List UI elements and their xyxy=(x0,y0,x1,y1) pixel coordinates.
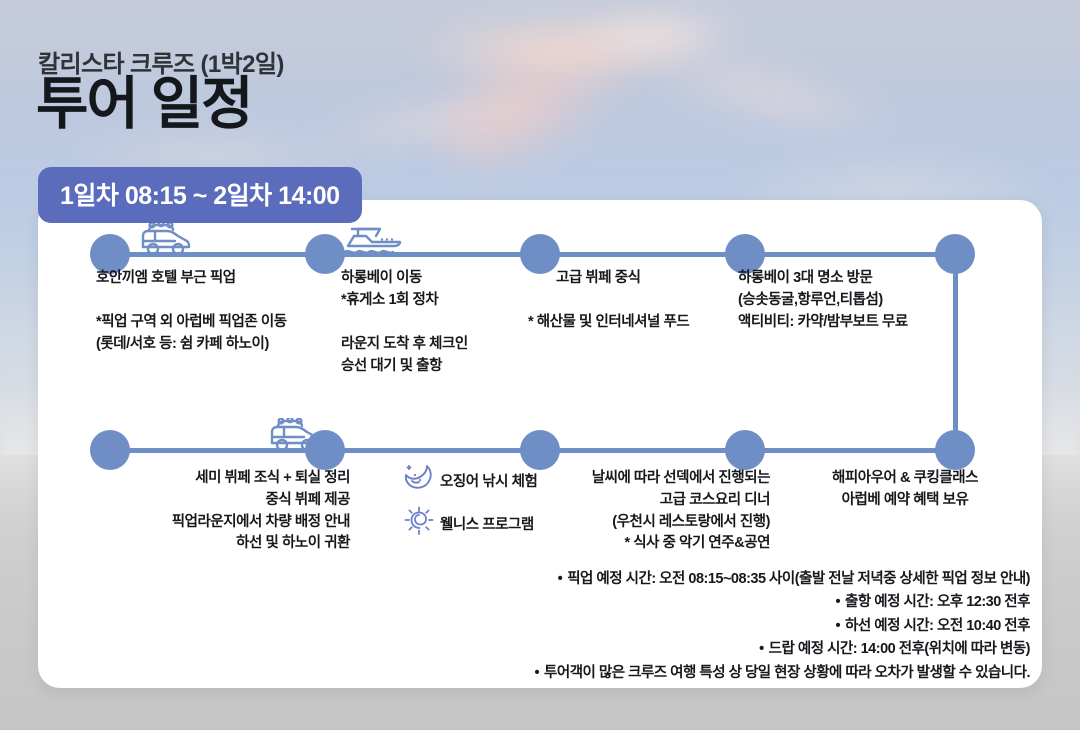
step-title-d1-2: 하롱베이 이동 *휴게소 1회 정차 xyxy=(341,268,551,312)
timeline-node-d2-1[interactable] xyxy=(90,430,130,470)
status-badge: 1일차 08:15 ~ 2일차 14:00 xyxy=(38,167,362,223)
step-title-d2-4: 해피아우어 & 쿠킹클래스 아럽베 예약 혜택 보유 xyxy=(795,468,1015,512)
step-detail-d1-2: 라운지 도착 후 체크인 승선 대기 및 출항 xyxy=(341,334,551,378)
timeline-node-d2-5[interactable] xyxy=(935,430,975,470)
moon-icon xyxy=(403,462,435,494)
note-text: 출항 예정 시간: 오후 12:30 전후 xyxy=(845,594,1030,610)
sun-icon xyxy=(402,505,436,537)
note-text: 드랍 예정 시간: 14:00 전후(위치에 따라 변동) xyxy=(769,641,1030,657)
bullet-icon: • xyxy=(835,618,840,634)
page-title: 투어 일정 xyxy=(36,76,252,133)
notes-list: •픽업 예정 시간: 오전 08:15~08:35 사이(출발 전날 저녁중 상… xyxy=(330,568,1030,685)
note-text: 픽업 예정 시간: 오전 08:15~08:35 사이(출발 전날 저녁중 상세… xyxy=(567,571,1030,587)
bullet-icon: • xyxy=(558,571,563,587)
step-title-d2-3: 날씨에 따라 선덱에서 진행되는 고급 코스요리 디너 (우천시 레스토랑에서 … xyxy=(530,468,770,555)
boat-icon xyxy=(342,224,404,258)
step-title-d1-1: 호안끼엠 호텔 부근 픽업 xyxy=(96,268,336,290)
step-title-d2-2: 세미 뷔페 조식 + 퇴실 정리 중식 뷔페 제공 픽업라운지에서 차량 배정 … xyxy=(90,468,350,555)
note-item: •하선 예정 시간: 오전 10:40 전후 xyxy=(330,615,1030,638)
bullet-icon: • xyxy=(835,594,840,610)
timeline-node-d2-3[interactable] xyxy=(520,430,560,470)
step-title-d1-3: 고급 뷔페 중식 xyxy=(556,268,756,290)
step-detail-d1-1: *픽업 구역 외 아럽베 픽업존 이동 (롯데/서호 등: 쉼 카페 하노이) xyxy=(96,312,346,356)
note-text: 투어객이 많은 크루즈 여행 특성 상 당일 현장 상황에 따라 오차가 발생할… xyxy=(544,665,1030,681)
timeline-node-d2-4[interactable] xyxy=(725,430,765,470)
note-item: •드랍 예정 시간: 14:00 전후(위치에 따라 변동) xyxy=(330,638,1030,661)
side-activity-label-2: 웰니스 프로그램 xyxy=(440,513,534,534)
note-item: •픽업 예정 시간: 오전 08:15~08:35 사이(출발 전날 저녁중 상… xyxy=(330,568,1030,591)
car-icon xyxy=(262,418,324,453)
step-title-d1-4: 하롱베이 3대 명소 방문 (승솟동굴,항루언,티톱섬) 액티비티: 카약/밤부… xyxy=(738,268,998,333)
side-activity-label-1: 오징어 낚시 체험 xyxy=(440,470,537,491)
note-item: •출항 예정 시간: 오후 12:30 전후 xyxy=(330,591,1030,614)
note-text: 하선 예정 시간: 오전 10:40 전후 xyxy=(845,618,1030,634)
step-detail-d1-3: * 해산물 및 인터네셔널 푸드 xyxy=(528,312,758,334)
car-icon xyxy=(133,222,195,257)
bullet-icon: • xyxy=(759,641,764,657)
note-item: •투어객이 많은 크루즈 여행 특성 상 당일 현장 상황에 따라 오차가 발생… xyxy=(330,662,1030,685)
bullet-icon: • xyxy=(534,665,539,681)
